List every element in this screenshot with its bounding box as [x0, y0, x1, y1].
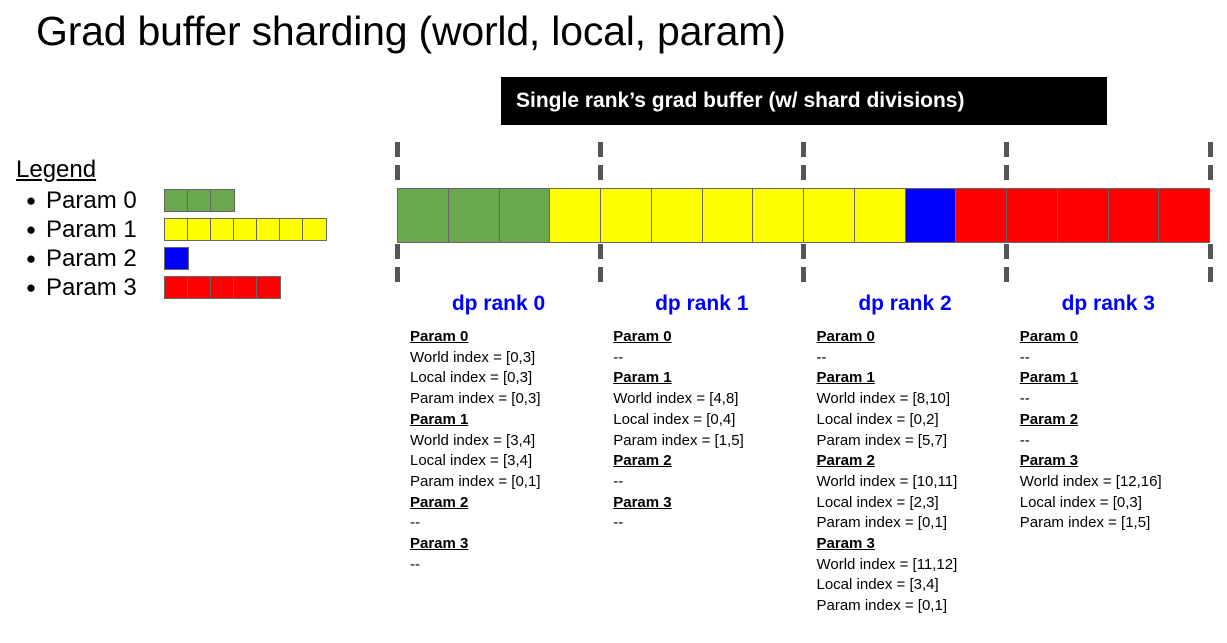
- legend-swatch: [164, 276, 281, 299]
- param-index-line: World index = [12,16]: [1020, 472, 1210, 493]
- legend-item-label: Param 1: [46, 216, 164, 244]
- grad-buffer-bar: [397, 188, 1210, 243]
- param-name: Param 3: [613, 493, 803, 514]
- param-index-line: Local index = [0,4]: [613, 410, 803, 431]
- shard-divider-tick: [598, 244, 603, 288]
- rank-column-1: dp rank 1Param 0--Param 1World index = […: [600, 292, 803, 534]
- bullet-icon: ●: [16, 279, 46, 296]
- shard-divider-tick: [395, 142, 400, 188]
- legend-swatch-cell: [188, 190, 211, 211]
- rank-column-2: dp rank 2Param 0--Param 1World index = […: [804, 292, 1007, 617]
- legend-rows: ●Param 0●Param 1●Param 2●Param 3: [16, 186, 386, 302]
- legend-item-label: Param 2: [46, 245, 164, 273]
- param-index-line: Param index = [5,7]: [817, 431, 1007, 452]
- buffer-cell: [956, 189, 1007, 242]
- buffer-cell: [398, 189, 449, 242]
- legend-swatch-cell: [211, 219, 234, 240]
- rank-body: Param 0--Param 1--Param 2--Param 3World …: [1007, 327, 1210, 534]
- param-index-line: World index = [8,10]: [817, 389, 1007, 410]
- shard-divider-tick: [801, 142, 806, 188]
- param-name: Param 2: [1020, 410, 1210, 431]
- param-index-line: --: [613, 348, 803, 369]
- buffer-banner-label: Single rank’s grad buffer (w/ shard divi…: [516, 89, 964, 113]
- bullet-icon: ●: [16, 250, 46, 267]
- page-title: Grad buffer sharding (world, local, para…: [36, 8, 786, 55]
- rank-column-3: dp rank 3Param 0--Param 1--Param 2--Para…: [1007, 292, 1210, 534]
- legend-item-param-0: ●Param 0: [16, 186, 386, 215]
- param-index-line: --: [1020, 389, 1210, 410]
- param-name: Param 3: [1020, 451, 1210, 472]
- buffer-banner: Single rank’s grad buffer (w/ shard divi…: [501, 77, 1107, 125]
- param-index-line: Param index = [0,1]: [817, 513, 1007, 534]
- param-name: Param 1: [410, 410, 600, 431]
- buffer-cell: [550, 189, 601, 242]
- legend-item-param-2: ●Param 2: [16, 244, 386, 273]
- buffer-cell: [1109, 189, 1160, 242]
- param-name: Param 3: [817, 534, 1007, 555]
- param-name: Param 0: [410, 327, 600, 348]
- buffer-cell: [1058, 189, 1109, 242]
- legend-swatch-cell: [188, 277, 211, 298]
- param-index-line: World index = [3,4]: [410, 431, 600, 452]
- buffer-cell: [601, 189, 652, 242]
- legend-swatch: [164, 189, 235, 212]
- rank-body: Param 0World index = [0,3]Local index = …: [397, 327, 600, 575]
- rank-heading: dp rank 2: [804, 292, 1007, 316]
- buffer-cell: [753, 189, 804, 242]
- param-index-line: --: [1020, 431, 1210, 452]
- param-index-line: --: [613, 513, 803, 534]
- buffer-cell: [703, 189, 754, 242]
- legend: Legend ●Param 0●Param 1●Param 2●Param 3: [16, 156, 386, 302]
- legend-swatch-cell: [211, 190, 234, 211]
- rank-body: Param 0--Param 1World index = [8,10]Loca…: [804, 327, 1007, 617]
- legend-swatch-cell: [280, 219, 303, 240]
- param-index-line: Local index = [3,4]: [410, 451, 600, 472]
- param-name: Param 1: [613, 368, 803, 389]
- legend-swatch: [164, 218, 327, 241]
- shard-divider-tick: [395, 244, 400, 288]
- bullet-icon: ●: [16, 192, 46, 209]
- legend-item-param-3: ●Param 3: [16, 273, 386, 302]
- param-index-line: Param index = [0,3]: [410, 389, 600, 410]
- rank-heading: dp rank 0: [397, 292, 600, 316]
- shard-divider-tick: [1004, 142, 1009, 188]
- legend-swatch-cell: [234, 219, 257, 240]
- param-name: Param 2: [410, 493, 600, 514]
- buffer-cell: [855, 189, 906, 242]
- param-index-line: Local index = [0,3]: [1020, 493, 1210, 514]
- buffer-cell: [500, 189, 551, 242]
- param-index-line: --: [410, 555, 600, 576]
- param-index-line: Local index = [3,4]: [817, 575, 1007, 596]
- param-index-line: World index = [0,3]: [410, 348, 600, 369]
- legend-item-label: Param 0: [46, 187, 164, 215]
- slide-canvas: Grad buffer sharding (world, local, para…: [0, 0, 1227, 643]
- buffer-cell: [652, 189, 703, 242]
- legend-swatch-cell: [165, 277, 188, 298]
- grad-buffer-cells: [397, 188, 1210, 243]
- legend-swatch-cell: [303, 219, 326, 240]
- param-index-line: Local index = [0,3]: [410, 368, 600, 389]
- buffer-cell: [1007, 189, 1058, 242]
- shard-divider-tick: [801, 244, 806, 288]
- param-index-line: Param index = [1,5]: [1020, 513, 1210, 534]
- legend-item-label: Param 3: [46, 274, 164, 302]
- legend-swatch-cell: [234, 277, 257, 298]
- param-index-line: Local index = [0,2]: [817, 410, 1007, 431]
- param-index-line: Param index = [1,5]: [613, 431, 803, 452]
- bullet-icon: ●: [16, 221, 46, 238]
- param-index-line: --: [410, 513, 600, 534]
- param-name: Param 1: [1020, 368, 1210, 389]
- rank-column-0: dp rank 0Param 0World index = [0,3]Local…: [397, 292, 600, 575]
- param-name: Param 0: [1020, 327, 1210, 348]
- buffer-cell: [449, 189, 500, 242]
- legend-swatch-cell: [188, 219, 211, 240]
- param-name: Param 2: [613, 451, 803, 472]
- param-index-line: World index = [10,11]: [817, 472, 1007, 493]
- param-name: Param 0: [613, 327, 803, 348]
- param-index-line: World index = [4,8]: [613, 389, 803, 410]
- param-index-line: Local index = [2,3]: [817, 493, 1007, 514]
- rank-body: Param 0--Param 1World index = [4,8]Local…: [600, 327, 803, 534]
- legend-item-param-1: ●Param 1: [16, 215, 386, 244]
- param-index-line: --: [817, 348, 1007, 369]
- shard-divider-tick: [1004, 244, 1009, 288]
- legend-swatch-cell: [165, 219, 188, 240]
- param-name: Param 0: [817, 327, 1007, 348]
- legend-swatch-cell: [257, 219, 280, 240]
- legend-swatch-cell: [257, 277, 280, 298]
- param-name: Param 2: [817, 451, 1007, 472]
- buffer-cell: [1159, 189, 1209, 242]
- shard-divider-tick: [1208, 244, 1213, 288]
- legend-swatch: [164, 247, 189, 270]
- legend-swatch-cell: [211, 277, 234, 298]
- param-index-line: --: [613, 472, 803, 493]
- param-index-line: World index = [11,12]: [817, 555, 1007, 576]
- shard-divider-tick: [1208, 142, 1213, 188]
- legend-swatch-cell: [165, 190, 188, 211]
- param-index-line: Param index = [0,1]: [410, 472, 600, 493]
- param-index-line: --: [1020, 348, 1210, 369]
- legend-title: Legend: [16, 156, 386, 184]
- legend-swatch-cell: [165, 248, 188, 269]
- shard-divider-tick: [598, 142, 603, 188]
- param-name: Param 3: [410, 534, 600, 555]
- param-index-line: Param index = [0,1]: [817, 596, 1007, 617]
- param-name: Param 1: [817, 368, 1007, 389]
- buffer-cell: [804, 189, 855, 242]
- rank-heading: dp rank 1: [600, 292, 803, 316]
- buffer-cell: [906, 189, 957, 242]
- rank-heading: dp rank 3: [1007, 292, 1210, 316]
